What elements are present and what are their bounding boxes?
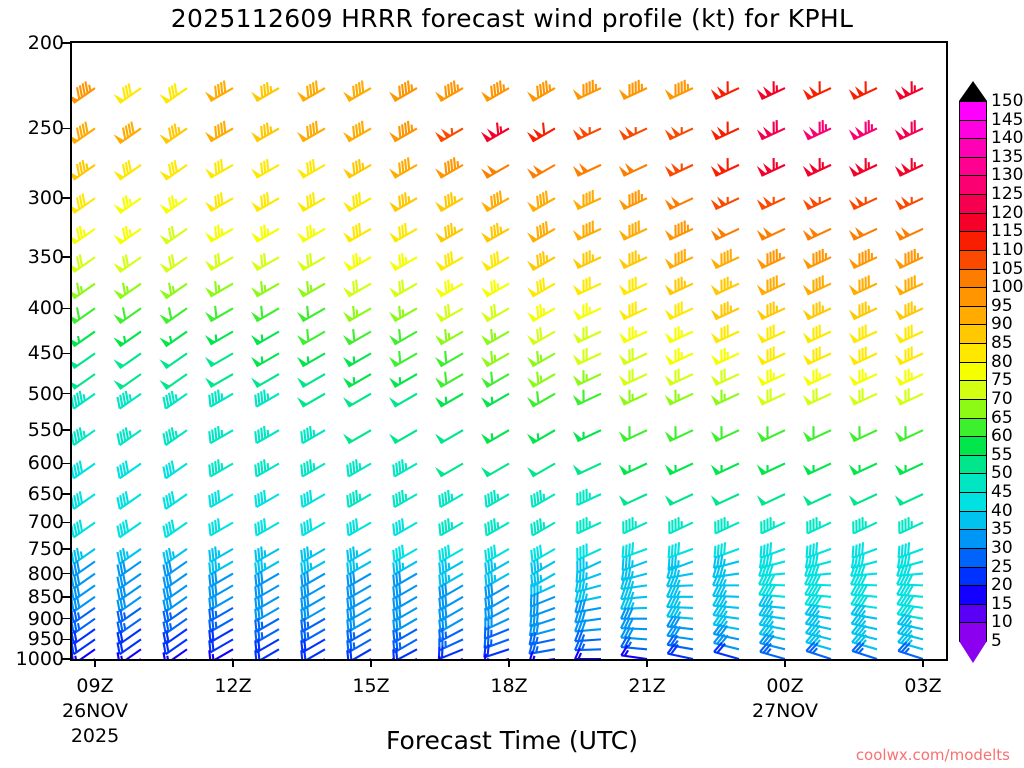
colorbar-cell: [959, 138, 987, 158]
colorbar-tick-label: 50: [991, 463, 1013, 483]
x-axis-tick-mark: [232, 659, 234, 667]
colorbar-tick-label: 60: [991, 426, 1013, 446]
axis-overlay: 2002503003504004505005506006507007508008…: [0, 0, 1024, 768]
y-axis-tick-mark: [62, 658, 70, 660]
x-axis-date-label: 27NOV: [752, 700, 818, 722]
colorbar-cell: [959, 473, 987, 493]
colorbar-tick-label: 130: [991, 165, 1023, 185]
colorbar-cell: [959, 306, 987, 326]
colorbar-tick-label: 25: [991, 557, 1013, 577]
x-axis-tick-label: 15Z: [352, 675, 389, 697]
x-axis-tick-mark: [94, 659, 96, 667]
y-axis-tick-label: 200: [4, 32, 64, 54]
colorbar-tick-label: 125: [991, 184, 1023, 204]
colorbar-tick-label: 10: [991, 612, 1013, 632]
colorbar-tick-label: 120: [991, 203, 1023, 223]
y-axis-tick-label: 850: [4, 586, 64, 608]
wind-profile-chart: 2025112609 HRRR forecast wind profile (k…: [0, 0, 1024, 768]
y-axis-tick-mark: [62, 393, 70, 395]
colorbar-tick-label: 45: [991, 482, 1013, 502]
colorbar-tick-label: 150: [991, 91, 1023, 111]
y-axis-tick-label: 900: [4, 608, 64, 630]
colorbar-tick-label: 85: [991, 333, 1013, 353]
y-axis-tick-label: 600: [4, 452, 64, 474]
colorbar-cell: [959, 604, 987, 624]
colorbar-cell: [959, 231, 987, 251]
colorbar-cell: [959, 157, 987, 177]
colorbar-tick-label: 40: [991, 501, 1013, 521]
colorbar-tick-label: 55: [991, 445, 1013, 465]
colorbar-tick-label: 105: [991, 259, 1023, 279]
y-axis-tick-label: 300: [4, 187, 64, 209]
colorbar-cell: [959, 548, 987, 568]
x-axis-tick-label: 21Z: [628, 675, 665, 697]
colorbar-tick-label: 5: [991, 631, 1002, 651]
y-axis-tick-mark: [62, 353, 70, 355]
y-axis-tick-label: 400: [4, 297, 64, 319]
y-axis-tick-mark: [62, 522, 70, 524]
y-axis-tick-label: 700: [4, 511, 64, 533]
colorbar-over-arrow: [959, 81, 987, 101]
colorbar-cell: [959, 175, 987, 195]
colorbar-cell: [959, 529, 987, 549]
colorbar-tick-label: 75: [991, 370, 1013, 390]
y-axis-tick-label: 450: [4, 342, 64, 364]
y-axis-tick-mark: [62, 42, 70, 44]
y-axis-tick-label: 1000: [4, 648, 64, 670]
colorbar-tick-label: 115: [991, 221, 1023, 241]
colorbar-tick-label: 100: [991, 277, 1023, 297]
colorbar-cell: [959, 287, 987, 307]
x-axis-tick-label: 12Z: [214, 675, 251, 697]
x-axis-tick-label: 09Z: [76, 675, 113, 697]
colorbar-cell: [959, 436, 987, 456]
colorbar-cell: [959, 343, 987, 363]
colorbar-cell: [959, 567, 987, 587]
y-axis-tick-mark: [62, 573, 70, 575]
colorbar-tick-label: 110: [991, 240, 1023, 260]
colorbar-cell: [959, 213, 987, 233]
y-axis-tick-mark: [62, 618, 70, 620]
y-axis-tick-label: 550: [4, 419, 64, 441]
colorbar-cell: [959, 399, 987, 419]
y-axis-tick-mark: [62, 429, 70, 431]
colorbar-cell: [959, 194, 987, 214]
colorbar[interactable]: [959, 101, 987, 641]
colorbar-tick-label: 145: [991, 110, 1023, 130]
colorbar-tick-label: 35: [991, 519, 1013, 539]
colorbar-cell: [959, 418, 987, 438]
colorbar-cell: [959, 120, 987, 140]
y-axis-tick-label: 800: [4, 563, 64, 585]
x-axis-tick-label: 03Z: [904, 675, 941, 697]
colorbar-cell: [959, 250, 987, 270]
credit-link[interactable]: coolwx.com/modelts: [856, 746, 1010, 764]
y-axis-tick-mark: [62, 128, 70, 130]
y-axis-tick-label: 250: [4, 117, 64, 139]
colorbar-tick-label: 80: [991, 352, 1013, 372]
y-axis-tick-mark: [62, 596, 70, 598]
x-axis-tick-mark: [922, 659, 924, 667]
x-axis-tick-label: 00Z: [766, 675, 803, 697]
colorbar-cell: [959, 269, 987, 289]
y-axis-tick-mark: [62, 548, 70, 550]
y-axis-tick-mark: [62, 463, 70, 465]
y-axis-tick-mark: [62, 308, 70, 310]
colorbar-tick-label: 135: [991, 147, 1023, 167]
colorbar-tick-label: 20: [991, 575, 1013, 595]
x-axis-tick-mark: [370, 659, 372, 667]
x-axis-tick-label: 18Z: [490, 675, 527, 697]
y-axis-tick-label: 650: [4, 483, 64, 505]
colorbar-cell: [959, 324, 987, 344]
colorbar-cell: [959, 622, 987, 642]
colorbar-tick-label: 65: [991, 408, 1013, 428]
colorbar-cell: [959, 101, 987, 121]
colorbar-cell: [959, 511, 987, 531]
y-axis-tick-mark: [62, 256, 70, 258]
colorbar-tick-label: 90: [991, 314, 1013, 334]
colorbar-under-arrow: [959, 641, 987, 663]
x-axis-tick-mark: [508, 659, 510, 667]
y-axis-tick-label: 500: [4, 383, 64, 405]
y-axis-tick-label: 350: [4, 246, 64, 268]
colorbar-cell: [959, 362, 987, 382]
colorbar-cell: [959, 455, 987, 475]
x-axis-date-label: 26NOV: [62, 700, 128, 722]
y-axis-tick-mark: [62, 639, 70, 641]
colorbar-cell: [959, 585, 987, 605]
y-axis-tick-mark: [62, 493, 70, 495]
colorbar-cell: [959, 492, 987, 512]
colorbar-cell: [959, 380, 987, 400]
colorbar-tick-label: 95: [991, 296, 1013, 316]
colorbar-tick-label: 70: [991, 389, 1013, 409]
y-axis-tick-mark: [62, 197, 70, 199]
x-axis-tick-mark: [646, 659, 648, 667]
colorbar-tick-label: 30: [991, 538, 1013, 558]
y-axis-tick-label: 750: [4, 538, 64, 560]
colorbar-tick-label: 15: [991, 594, 1013, 614]
x-axis-tick-mark: [784, 659, 786, 667]
colorbar-tick-label: 140: [991, 128, 1023, 148]
